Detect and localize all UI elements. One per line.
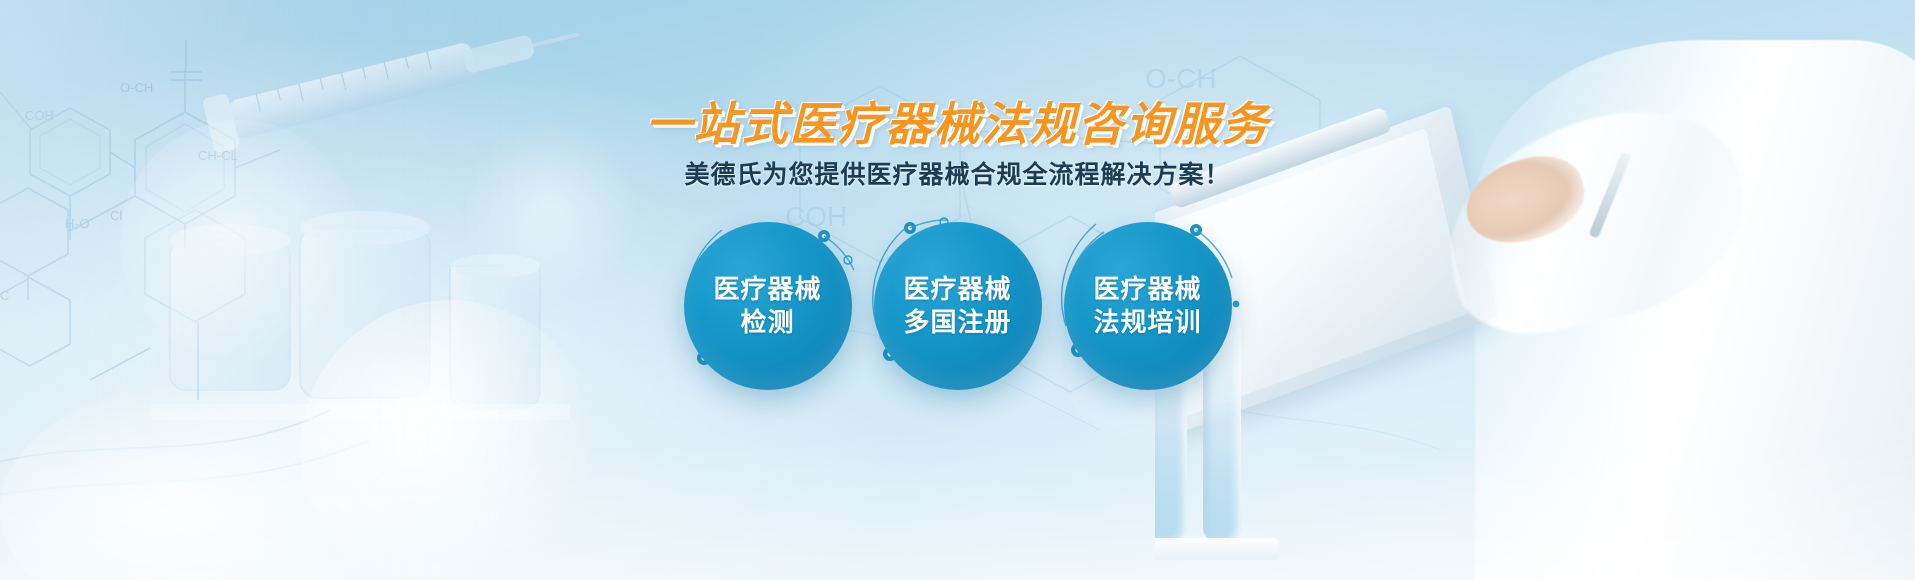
service-badge-training[interactable]: 医疗器械 法规培训 [1064,222,1232,390]
badge-label-line2: 多国注册 [903,306,1011,339]
badge-label-line2: 检测 [740,306,794,339]
badge-circle[interactable]: 医疗器械 多国注册 [874,222,1042,390]
badge-label-line1: 医疗器械 [713,273,821,306]
watermark-cl-mid: Cl [110,208,122,223]
hero-banner: Cl O-CH COH CH-CL H₂O Cl C Cl Cl [0,0,1915,580]
badge-label-line1: 医疗器械 [1093,273,1201,306]
badge-label-line2: 法规培训 [1093,306,1201,339]
badge-circle[interactable]: 医疗器械 检测 [684,222,852,390]
service-badge-registration[interactable]: 医疗器械 多国注册 [874,222,1042,390]
badge-circle[interactable]: 医疗器械 法规培训 [1064,222,1232,390]
badge-label-line1: 医疗器械 [903,273,1011,306]
banner-headline: 一站式医疗器械法规咨询服务 [0,88,1915,154]
banner-subheadline: 美德氏为您提供医疗器械合规全流程解决方案！ [0,155,1915,191]
test-tube-rack [1155,538,1279,560]
service-badge-inspection[interactable]: 医疗器械 检测 [684,222,852,390]
service-badge-group: 医疗器械 检测 [0,222,1915,390]
